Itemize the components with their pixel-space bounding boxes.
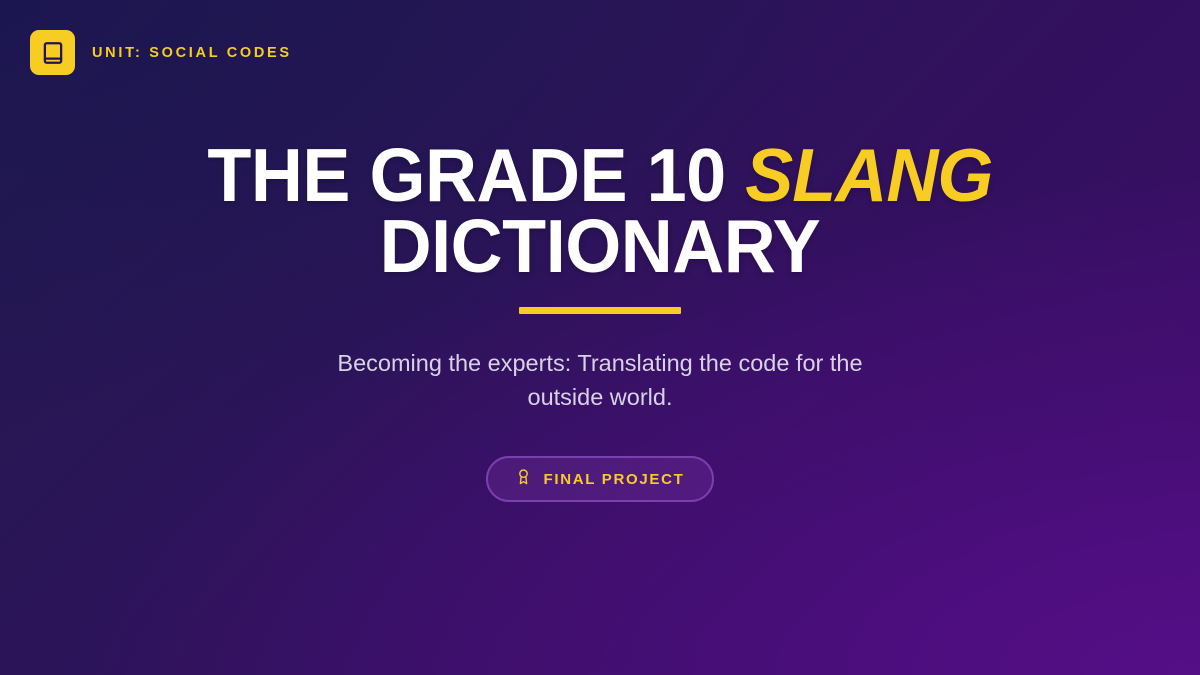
book-icon xyxy=(30,30,75,75)
final-project-label: FINAL PROJECT xyxy=(543,471,684,488)
title-divider xyxy=(519,307,681,314)
subtitle: Becoming the experts: Translating the co… xyxy=(300,346,900,416)
unit-label: UNIT: SOCIAL CODES xyxy=(92,45,292,61)
slide-canvas: UNIT: SOCIAL CODES THE GRADE 10 SLANG DI… xyxy=(0,0,1200,675)
award-medal-icon xyxy=(515,468,532,490)
final-project-badge[interactable]: FINAL PROJECT xyxy=(486,456,713,502)
title-line-2: DICTIONARY xyxy=(207,211,992,282)
hero-content: THE GRADE 10 SLANG DICTIONARY Becoming t… xyxy=(0,140,1200,502)
page-title: THE GRADE 10 SLANG DICTIONARY xyxy=(207,140,992,283)
unit-eyebrow: UNIT: SOCIAL CODES xyxy=(30,30,292,75)
